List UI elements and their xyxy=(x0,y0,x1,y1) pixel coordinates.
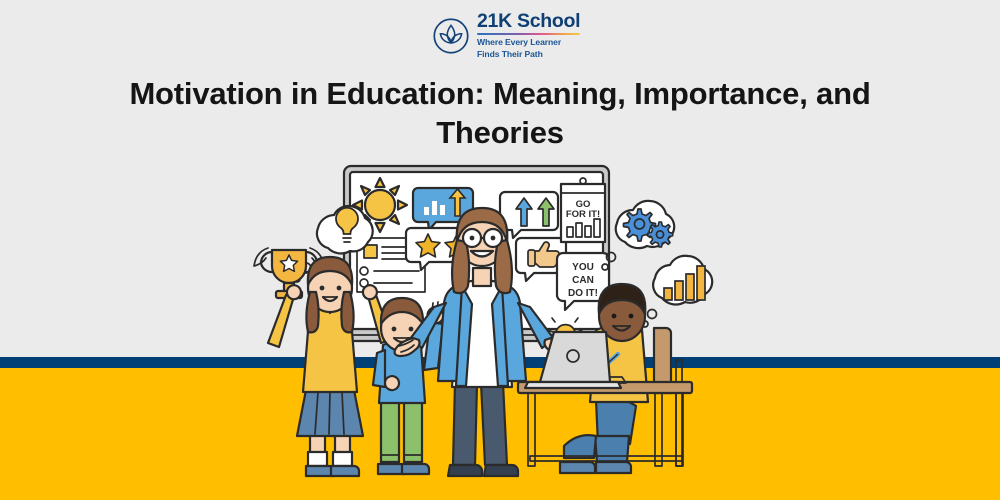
blog-banner: 21K School Where Every Learner Finds The… xyxy=(0,0,1000,500)
flipchart: GO FOR IT! xyxy=(561,178,605,242)
bubble-label-line1: YOU xyxy=(572,262,594,273)
classroom-motivation-illustration: .ol { stroke:#2b2b2b; stroke-width:2.2; … xyxy=(0,0,1000,500)
bubble-label-line2: CAN xyxy=(572,275,594,286)
gears-thought-bubble xyxy=(602,201,674,270)
bubble-label-line3: DO IT! xyxy=(568,288,598,299)
up-arrows-bubble xyxy=(500,192,558,238)
bar-chart-thought-bubble xyxy=(642,256,712,327)
